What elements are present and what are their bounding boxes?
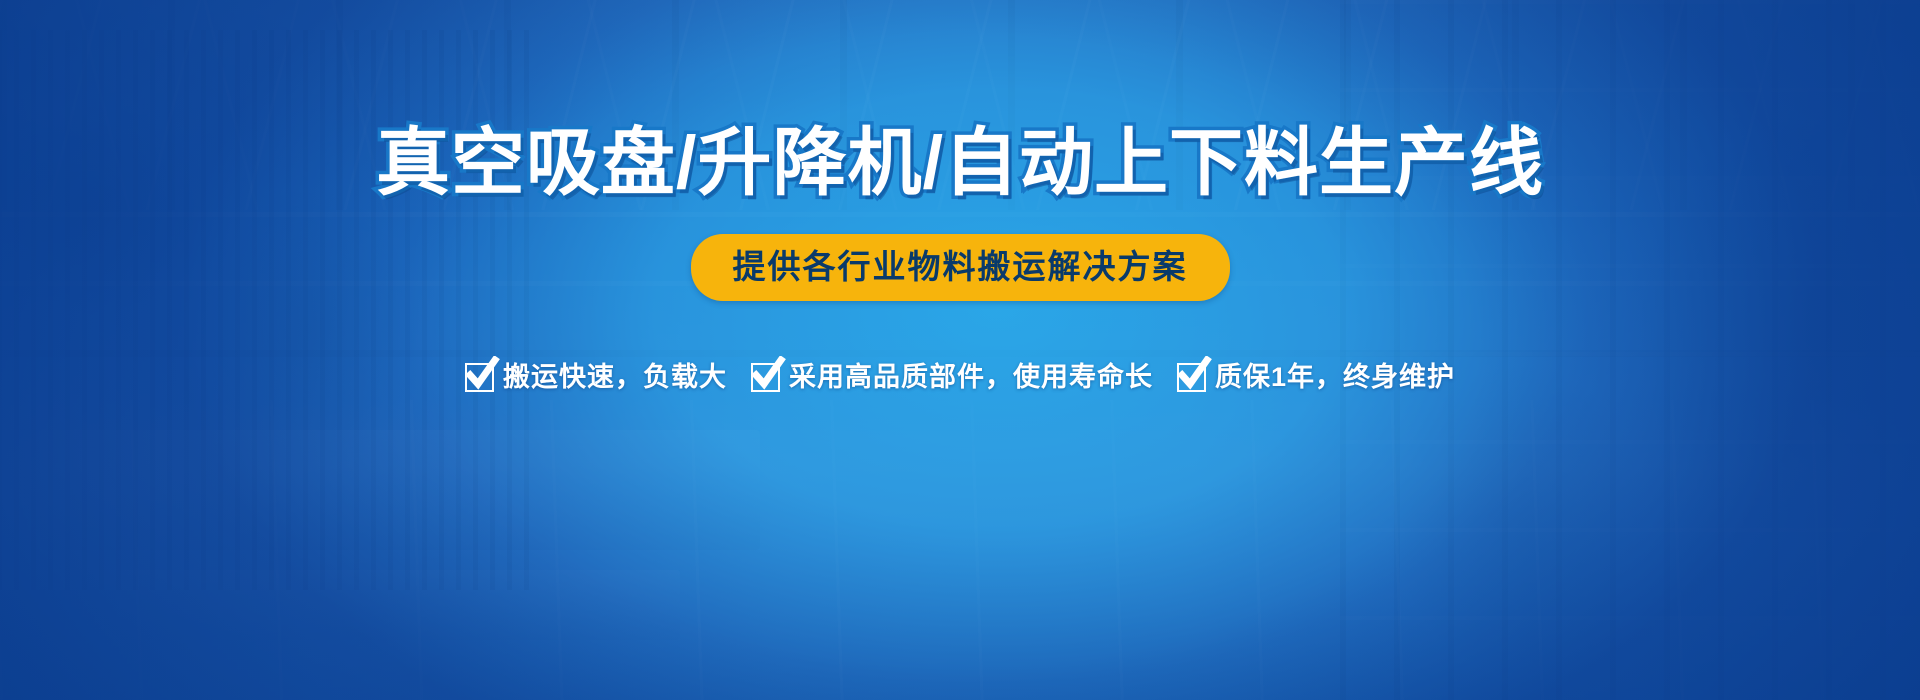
feature-list: 搬运快速，负载大 采用高品质部件，使用寿命长 质保1年，终身维护	[465, 363, 1455, 392]
banner-title: 真空吸盘/升降机/自动上下料生产线	[376, 126, 1544, 200]
feature-item: 搬运快速，负载大	[465, 363, 727, 392]
check-icon	[1177, 363, 1206, 392]
banner-content: 真空吸盘/升降机/自动上下料生产线 提供各行业物料搬运解决方案 搬运快速，负载大…	[0, 0, 1920, 700]
banner-subtitle-pill: 提供各行业物料搬运解决方案	[691, 234, 1230, 301]
feature-label: 质保1年，终身维护	[1215, 364, 1455, 391]
feature-label: 采用高品质部件，使用寿命长	[789, 364, 1153, 391]
check-icon	[751, 363, 780, 392]
feature-label: 搬运快速，负载大	[503, 364, 727, 391]
feature-item: 采用高品质部件，使用寿命长	[751, 363, 1153, 392]
feature-item: 质保1年，终身维护	[1177, 363, 1455, 392]
check-icon	[465, 363, 494, 392]
promo-banner: 真空吸盘/升降机/自动上下料生产线 提供各行业物料搬运解决方案 搬运快速，负载大…	[0, 0, 1920, 700]
